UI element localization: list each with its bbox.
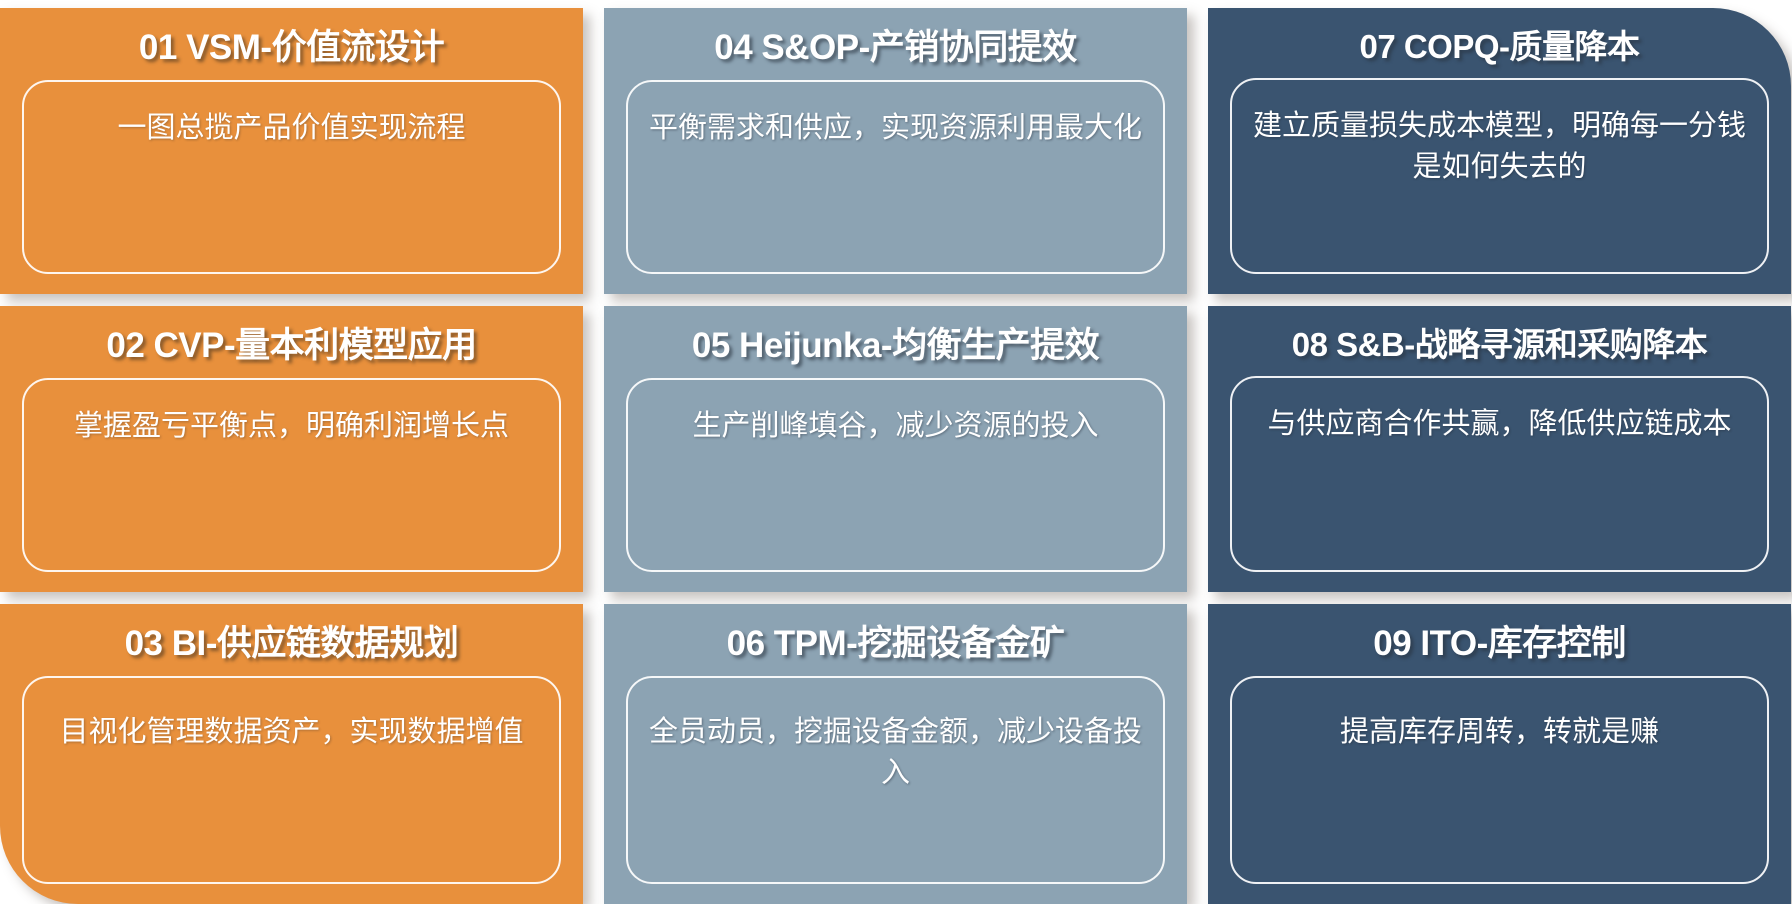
card-body-text: 与供应商合作共赢，降低供应链成本 bbox=[1267, 404, 1731, 445]
card-06-tpm[interactable]: 06 TPM-挖掘设备金矿 全员动员，挖掘设备金额，减少设备投入 bbox=[604, 604, 1187, 904]
card-05-heijunka[interactable]: 05 Heijunka-均衡生产提效 生产削峰填谷，减少资源的投入 bbox=[604, 306, 1187, 592]
card-02-cvp[interactable]: 02 CVP-量本利模型应用 掌握盈亏平衡点，明确利润增长点 bbox=[0, 306, 583, 592]
card-body-text: 生产削峰填谷，减少资源的投入 bbox=[692, 406, 1098, 447]
card-title: 01 VSM-价值流设计 bbox=[22, 28, 561, 68]
card-title: 09 ITO-库存控制 bbox=[1230, 624, 1769, 664]
card-body-panel: 平衡需求和供应，实现资源利用最大化 bbox=[626, 80, 1165, 274]
card-07-copq[interactable]: 07 COPQ-质量降本 建立质量损失成本模型，明确每一分钱是如何失去的 bbox=[1208, 8, 1791, 294]
card-body-text: 建立质量损失成本模型，明确每一分钱是如何失去的 bbox=[1240, 106, 1759, 188]
card-body-panel: 全员动员，挖掘设备金额，减少设备投入 bbox=[626, 676, 1165, 884]
card-09-ito[interactable]: 09 ITO-库存控制 提高库存周转，转就是赚 bbox=[1208, 604, 1791, 904]
card-title: 04 S&OP-产销协同提效 bbox=[626, 28, 1165, 68]
card-title: 08 S&B-战略寻源和采购降本 bbox=[1230, 326, 1769, 364]
card-body-text: 一图总揽产品价值实现流程 bbox=[117, 108, 465, 149]
card-body-text: 平衡需求和供应，实现资源利用最大化 bbox=[649, 108, 1142, 149]
card-title: 06 TPM-挖掘设备金矿 bbox=[626, 624, 1165, 664]
card-04-sop[interactable]: 04 S&OP-产销协同提效 平衡需求和供应，实现资源利用最大化 bbox=[604, 8, 1187, 294]
card-body-text: 目视化管理数据资产，实现数据增值 bbox=[59, 712, 523, 753]
card-title: 07 COPQ-质量降本 bbox=[1230, 28, 1769, 66]
card-01-vsm[interactable]: 01 VSM-价值流设计 一图总揽产品价值实现流程 bbox=[0, 8, 583, 294]
card-body-panel: 目视化管理数据资产，实现数据增值 bbox=[22, 676, 561, 884]
card-body-text: 掌握盈亏平衡点，明确利润增长点 bbox=[74, 406, 509, 447]
card-body-panel: 生产削峰填谷，减少资源的投入 bbox=[626, 378, 1165, 572]
card-title: 05 Heijunka-均衡生产提效 bbox=[626, 326, 1165, 366]
card-body-text: 全员动员，挖掘设备金额，减少设备投入 bbox=[646, 712, 1145, 794]
card-title: 02 CVP-量本利模型应用 bbox=[22, 326, 561, 366]
card-body-panel: 与供应商合作共赢，降低供应链成本 bbox=[1230, 376, 1769, 572]
card-body-text: 提高库存周转，转就是赚 bbox=[1340, 712, 1659, 753]
card-08-sb[interactable]: 08 S&B-战略寻源和采购降本 与供应商合作共赢，降低供应链成本 bbox=[1208, 306, 1791, 592]
card-grid: 01 VSM-价值流设计 一图总揽产品价值实现流程 04 S&OP-产销协同提效… bbox=[0, 0, 1792, 900]
card-body-panel: 提高库存周转，转就是赚 bbox=[1230, 676, 1769, 884]
card-body-panel: 掌握盈亏平衡点，明确利润增长点 bbox=[22, 378, 561, 572]
card-03-bi[interactable]: 03 BI-供应链数据规划 目视化管理数据资产，实现数据增值 bbox=[0, 604, 583, 904]
card-title: 03 BI-供应链数据规划 bbox=[22, 624, 561, 664]
card-body-panel: 建立质量损失成本模型，明确每一分钱是如何失去的 bbox=[1230, 78, 1769, 274]
card-body-panel: 一图总揽产品价值实现流程 bbox=[22, 80, 561, 274]
